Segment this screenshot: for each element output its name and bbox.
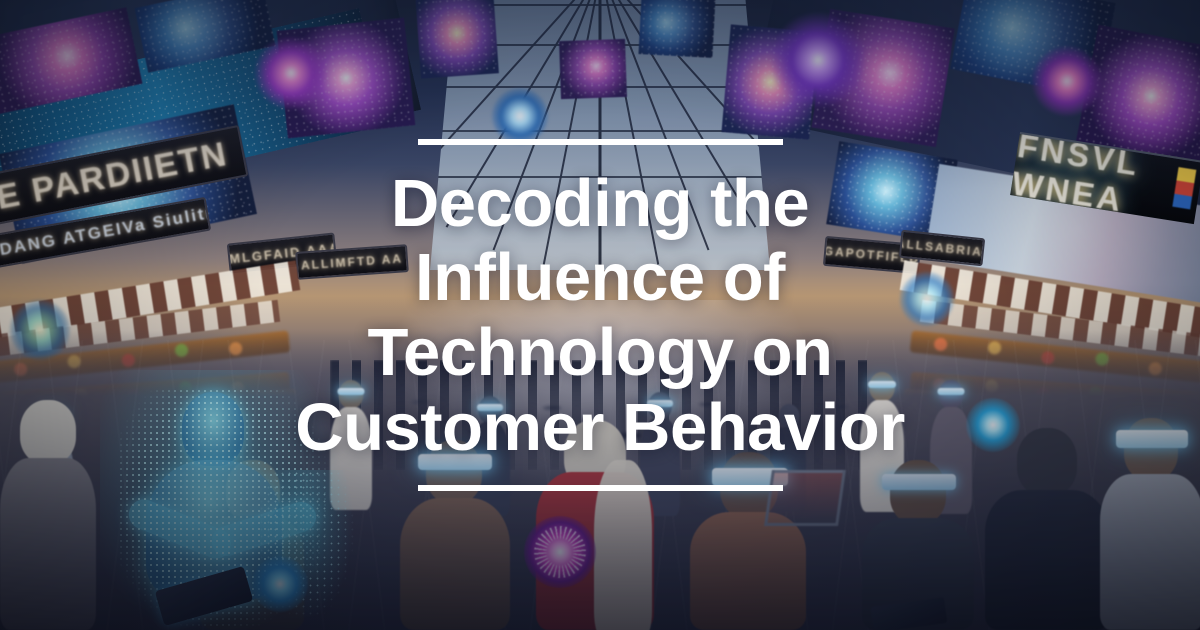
title-line-1: Decoding the <box>391 166 809 241</box>
title-line-4: Customer Behavior <box>295 390 905 465</box>
title-line-3: Technology on <box>368 315 833 390</box>
title-rule-bottom <box>418 485 783 491</box>
title-line-2: Influence of <box>415 240 785 315</box>
title-block: Decoding the Influence of Technology on … <box>0 0 1200 630</box>
title-rule-top <box>418 139 783 145</box>
page-title: Decoding the Influence of Technology on … <box>295 167 905 466</box>
hero-banner: E PARDIIETN UCTDANG ATGEIVa Siulitres IM… <box>0 0 1200 630</box>
